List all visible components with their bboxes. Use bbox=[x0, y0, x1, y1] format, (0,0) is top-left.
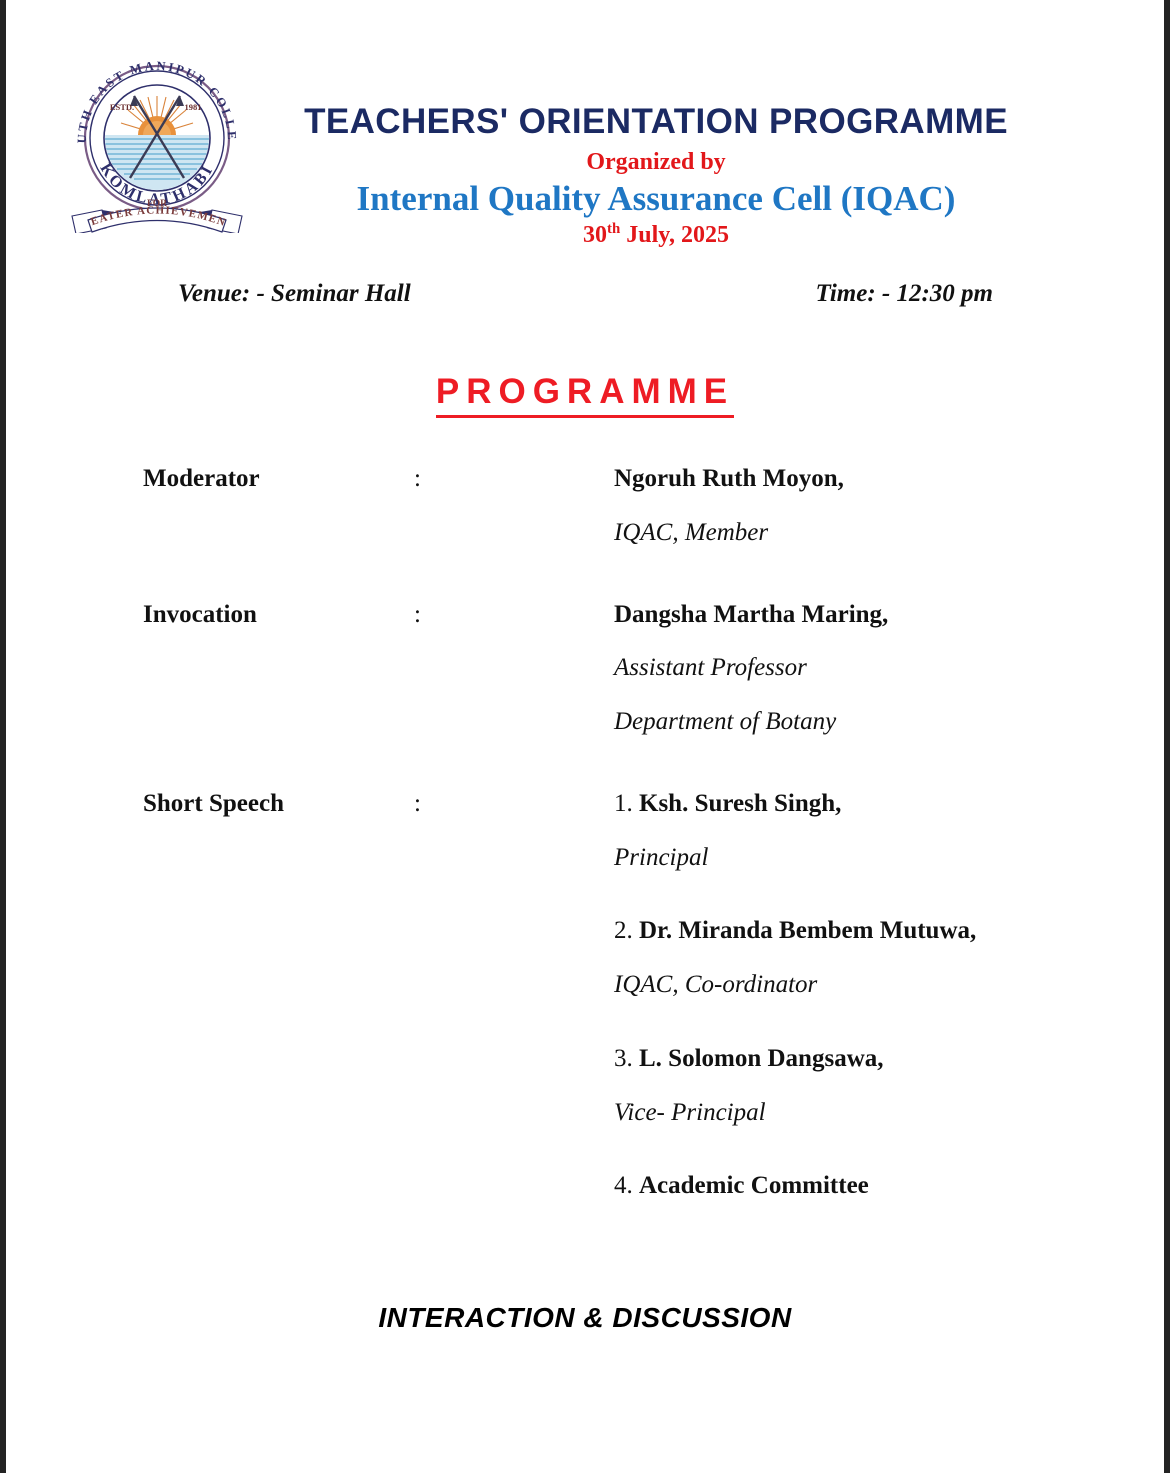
programme-row: Short Speech : 1. Ksh. Suresh Singh, Pri… bbox=[143, 787, 1043, 1203]
speaker-entry: 4. Academic Committee bbox=[614, 1169, 1043, 1203]
programme-row: Invocation : Dangsha Martha Maring, Assi… bbox=[143, 598, 1043, 739]
venue-time-row: Venue: - Seminar Hall Time: - 12:30 pm bbox=[178, 280, 993, 308]
speaker-name: 4. Academic Committee bbox=[614, 1169, 1043, 1203]
time-text: Time: - 12:30 pm bbox=[815, 280, 993, 308]
speaker-name: 2. Dr. Miranda Bembem Mutuwa, bbox=[614, 914, 1043, 948]
event-date-day: 30 bbox=[583, 222, 607, 248]
venue-text: Venue: - Seminar Hall bbox=[178, 280, 411, 308]
speaker-name: 1. Ksh. Suresh Singh, bbox=[614, 787, 1043, 821]
speaker-name-text: Academic Committee bbox=[639, 1172, 869, 1199]
speaker-name-text: L. Solomon Dangsawa, bbox=[639, 1045, 884, 1072]
organizer-name: Internal Quality Assurance Cell (IQAC) bbox=[236, 180, 1076, 219]
footer-line: INTERACTION & DISCUSSION bbox=[0, 1302, 1170, 1334]
footer-text: INTERACTION & DISCUSSION bbox=[378, 1302, 791, 1333]
svg-text:1981: 1981 bbox=[185, 102, 202, 112]
title-block: TEACHERS' ORIENTATION PROGRAMME Organize… bbox=[236, 104, 1076, 248]
programme-row-value: Dangsha Martha Maring, Assistant Profess… bbox=[614, 598, 1043, 739]
programme-row-colon: : bbox=[414, 462, 614, 496]
programme-row-colon: : bbox=[414, 787, 614, 821]
programme-row-value: 1. Ksh. Suresh Singh, Principal 2. Dr. M… bbox=[614, 787, 1043, 1203]
college-logo: ESTD. 1981 SOUTH EAST MANIPUR COLLEGE KO… bbox=[62, 38, 252, 233]
page-title: TEACHERS' ORIENTATION PROGRAMME bbox=[236, 104, 1076, 141]
speaker-designation: Principal bbox=[614, 841, 1043, 875]
speaker-number: 4. bbox=[614, 1172, 639, 1199]
speaker-number: 1. bbox=[614, 790, 639, 817]
speaker-number: 2. bbox=[614, 917, 639, 944]
organized-by-label: Organized by bbox=[236, 149, 1076, 175]
programme-list: Moderator : Ngoruh Ruth Moyon, IQAC, Mem… bbox=[143, 462, 1043, 1203]
programme-row-label: Moderator bbox=[143, 462, 414, 496]
programme-row-label: Invocation bbox=[143, 598, 414, 632]
speaker-entry: 3. L. Solomon Dangsawa, Vice- Principal bbox=[614, 1042, 1043, 1130]
event-date-ordinal: th bbox=[607, 221, 620, 237]
programme-document-page: ESTD. 1981 SOUTH EAST MANIPUR COLLEGE KO… bbox=[0, 0, 1170, 1473]
speaker-name: Ngoruh Ruth Moyon, bbox=[614, 462, 1043, 496]
programme-row-value: Ngoruh Ruth Moyon, IQAC, Member bbox=[614, 462, 1043, 550]
speaker-designation: Vice- Principal bbox=[614, 1096, 1043, 1130]
programme-row-label: Short Speech bbox=[143, 787, 414, 821]
speaker-entry: 2. Dr. Miranda Bembem Mutuwa, IQAC, Co-o… bbox=[614, 914, 1043, 1002]
event-date-rest: July, 2025 bbox=[620, 222, 729, 248]
speaker-designation: Department of Botany bbox=[614, 705, 1043, 739]
speaker-entry: Dangsha Martha Maring, Assistant Profess… bbox=[614, 598, 1043, 739]
programme-heading-text: PROGRAMME bbox=[436, 372, 734, 418]
document-header: ESTD. 1981 SOUTH EAST MANIPUR COLLEGE KO… bbox=[0, 0, 1170, 270]
programme-heading: PROGRAMME bbox=[0, 372, 1170, 418]
speaker-name: 3. L. Solomon Dangsawa, bbox=[614, 1042, 1043, 1076]
speaker-name-text: Ksh. Suresh Singh, bbox=[639, 790, 841, 817]
speaker-name-text: Dr. Miranda Bembem Mutuwa, bbox=[639, 917, 976, 944]
programme-row-colon: : bbox=[414, 598, 614, 632]
speaker-designation: Assistant Professor bbox=[614, 651, 1043, 685]
speaker-entry: 1. Ksh. Suresh Singh, Principal bbox=[614, 787, 1043, 875]
speaker-entry: Ngoruh Ruth Moyon, IQAC, Member bbox=[614, 462, 1043, 550]
speaker-name: Dangsha Martha Maring, bbox=[614, 598, 1043, 632]
event-date: 30th July, 2025 bbox=[236, 222, 1076, 248]
speaker-designation: IQAC, Member bbox=[614, 516, 1043, 550]
speaker-name-text: Ngoruh Ruth Moyon, bbox=[614, 465, 844, 492]
svg-text:ESTD.: ESTD. bbox=[110, 102, 134, 112]
speaker-name-text: Dangsha Martha Maring, bbox=[614, 601, 888, 628]
programme-row: Moderator : Ngoruh Ruth Moyon, IQAC, Mem… bbox=[143, 462, 1043, 550]
speaker-designation: IQAC, Co-ordinator bbox=[614, 968, 1043, 1002]
speaker-number: 3. bbox=[614, 1045, 639, 1072]
